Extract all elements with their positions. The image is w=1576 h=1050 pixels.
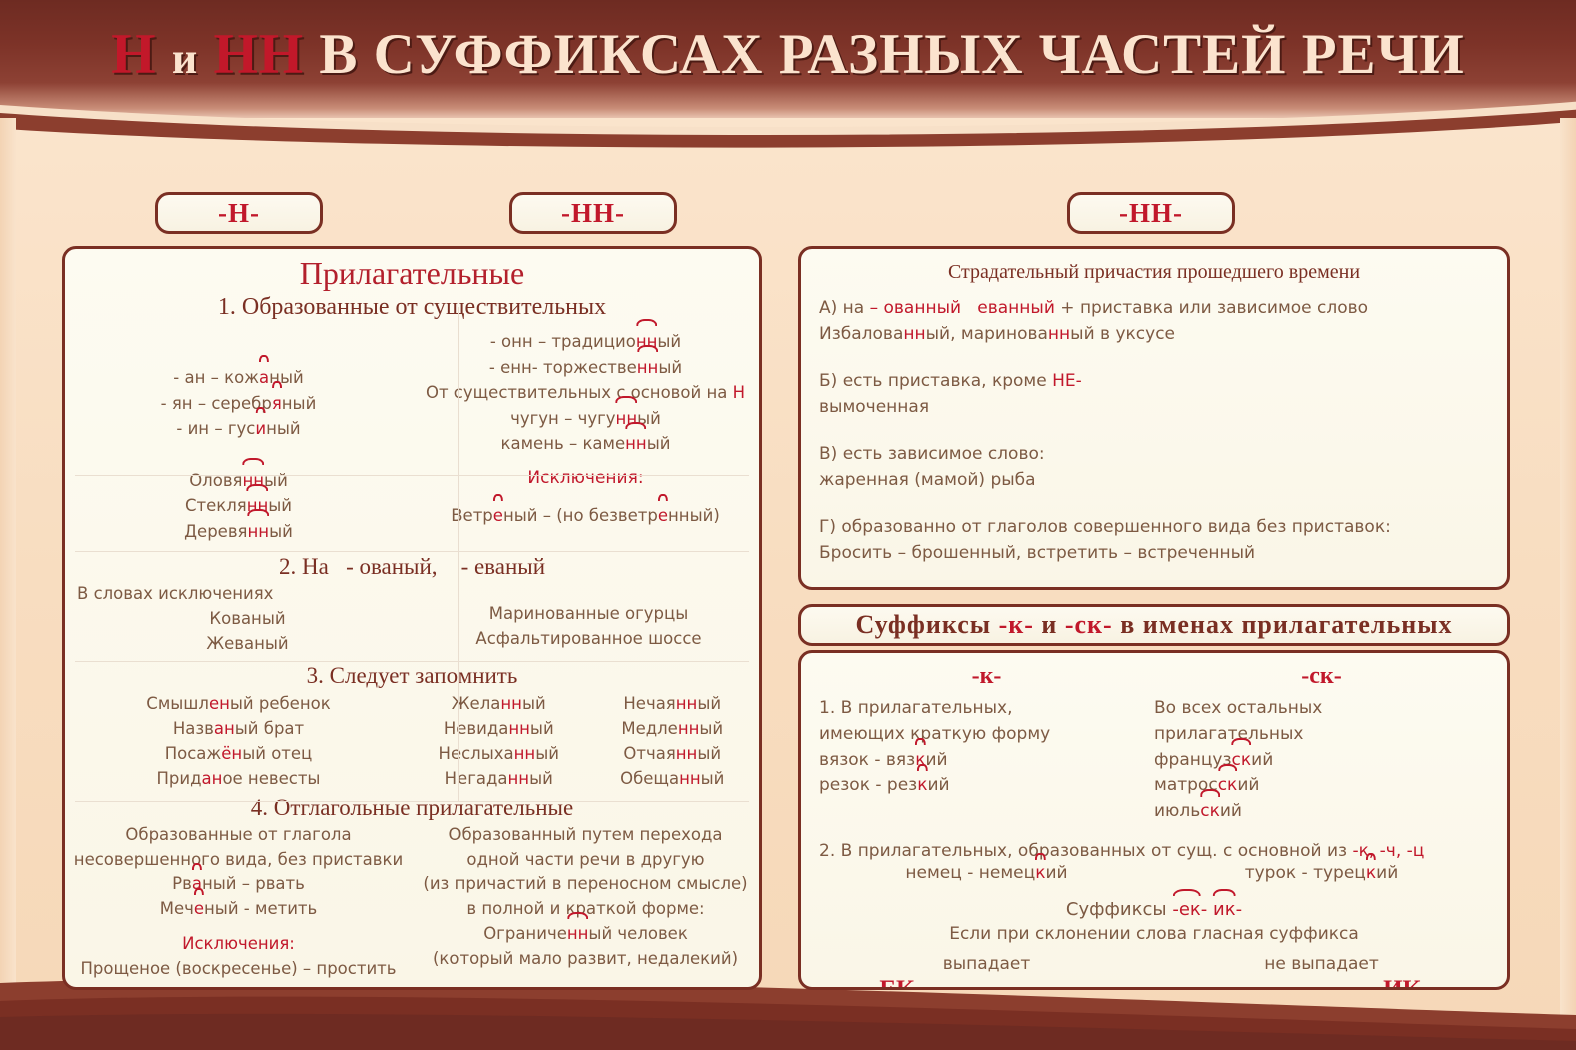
ek-ik-condition: Если при склонении слова гласная суффикс… — [819, 924, 1489, 944]
badge-left-n: -Н- — [155, 192, 323, 234]
s3-mid-item: Негаданный — [412, 766, 586, 791]
s3-mid-item: Неслыханный — [412, 741, 586, 766]
s4-heading: 4. Отглагольные прилагательные — [65, 795, 759, 821]
s4-right-line: Образованный путем перехода — [412, 823, 759, 848]
banner-sk: -ск- — [1065, 610, 1113, 640]
rule2-left: немец - немецкий — [819, 863, 1154, 883]
divider-after-s4 — [75, 801, 749, 802]
s1-right-example: камень – каменный — [412, 431, 759, 457]
rule-b-marker: Б) есть приставка, кроме — [819, 371, 1047, 391]
s3-left-item: Приданое невесты — [65, 766, 412, 791]
s2-left-note: В словах исключениях — [77, 582, 418, 607]
s1-right-item: - онн – традиционный — [412, 329, 759, 355]
s2-heading: 2. На - ованый, - еваный — [65, 554, 759, 580]
rule-a-example: Избалованный, маринованный в уксусе — [819, 322, 1489, 348]
s4-left-example: Рваный – рвать — [65, 872, 412, 897]
sk-example: июльский — [1154, 799, 1489, 825]
banner-tail: в именах прилагательных — [1120, 610, 1452, 640]
ek-ik-heading-ek: -ек — [1172, 899, 1200, 920]
s4-right-column: Образованный путем перехода одной части … — [412, 823, 759, 982]
s4-left-line: Образованные от глагола — [65, 823, 412, 848]
s2-heading-a: 2. На — [279, 554, 329, 579]
badge-right-nn-label: -НН- — [1119, 198, 1183, 229]
rule-a-tail: + приставка или зависимое слово — [1060, 298, 1368, 318]
s3-left-item: Названый брат — [65, 716, 412, 741]
divider-after-s3 — [75, 661, 749, 662]
sk-rule-line: прилагательных — [1154, 722, 1489, 748]
ek-ik-heading-word: Суффиксы — [1066, 899, 1167, 920]
banner-k: -к- — [999, 610, 1034, 640]
rule-b: Б) есть приставка, кроме НЕ- вымоченная — [819, 369, 1489, 420]
ek-badge: -ЕК- — [819, 976, 1180, 990]
rule-a: А) на – ованный еванный + приставка или … — [819, 296, 1489, 347]
right-top-panel: Страдательный причастия прошедшего време… — [798, 246, 1510, 590]
rule-b-accent: НЕ- — [1052, 371, 1082, 391]
s3-left-item: Посажёный отец — [65, 741, 412, 766]
s1-left-exception: Оловянный — [65, 468, 412, 494]
s1-left-item: - ан – кожаный — [65, 365, 412, 391]
badge-right-nn: -НН- — [1067, 192, 1235, 234]
sk-column: Во всех остальных прилагательных француз… — [1154, 696, 1489, 825]
s2-left-column: В словах исключениях Кованый Жеваный — [65, 582, 418, 656]
ek-ik-heading-ik: ик — [1213, 899, 1236, 920]
not-drops-label: не выпадает — [1154, 954, 1489, 974]
rule-g: Г) образованно от глаголов совершенного … — [819, 515, 1489, 566]
ek-ik-heading: Суффиксы -ек- ик- — [819, 899, 1489, 920]
s3-mid-column: Желанный Невиданный Неслыханный Негаданн… — [412, 691, 586, 791]
s1-left-column: - ан – кожаный - ян – серебряный - ин – … — [65, 329, 412, 544]
s2-heading-c: - еваный — [461, 554, 545, 579]
rule-a-suffix-a: – ованный — [870, 298, 961, 318]
s1-left-item: - ин – гусиный — [65, 416, 412, 442]
s4-exception-line: Прощеное (воскресенье) – простить — [65, 957, 412, 982]
banner-word-suffixes: Суффиксы — [855, 610, 991, 640]
page-title: Н и НН В СУФФИКСАХ РАЗНЫХ ЧАСТЕЙ РЕЧИ — [0, 22, 1576, 87]
k-column: 1. В прилагательных, имеющих краткую фор… — [819, 696, 1154, 825]
rule2-right: турок - турецкий — [1154, 863, 1489, 883]
k-example: резок - резкий — [819, 773, 1154, 799]
s4-right-gloss: (который мало развит, недалекий) — [412, 947, 759, 972]
s3-right-item: Отчаянный — [586, 741, 760, 766]
banner-and: и — [1041, 610, 1057, 640]
ik-badge: -ИК- — [1375, 976, 1489, 990]
s2-right-item: Маринованные огурцы — [418, 602, 759, 627]
s1-left-exception: Деревянный — [65, 519, 412, 545]
s3-right-item: Обещанный — [586, 766, 760, 791]
s3-right-item: Медленный — [586, 716, 760, 741]
s1-left-item: - ян – серебряный — [65, 391, 412, 417]
s2-right-column: Маринованные огурцы Асфальтированное шос… — [418, 582, 759, 656]
badge-left-nn-label: -НН- — [561, 198, 625, 229]
s3-heading: 3. Следует запомнить — [65, 663, 759, 689]
s5-badge: -Н- — [65, 985, 759, 990]
rule-g-marker: Г) образованно от глаголов совершенного … — [819, 515, 1489, 541]
adverbs-heading: Наречия — [819, 584, 1489, 590]
s2-left-item: Кованый — [77, 607, 418, 632]
rule-a-suffix-b: еванный — [977, 298, 1055, 318]
col-k-badge: -к- — [819, 663, 1154, 690]
s1-right-column: - онн – традиционный - енн- торжественны… — [412, 329, 759, 544]
s3-left-item: Смышленый ребенок — [65, 691, 412, 716]
s4-right-line: одной части речи в другую — [412, 848, 759, 873]
rule-g-example: Бросить – брошенный, встретить – встрече… — [819, 541, 1489, 567]
badge-left-n-label: -Н- — [218, 198, 260, 229]
left-panel-title: Прилагательные — [65, 255, 759, 292]
title-nn: НН — [213, 23, 304, 86]
col-sk-badge: -ск- — [1154, 663, 1489, 690]
s4-left-line: несовершенного вида, без приставки — [65, 848, 412, 873]
rule-v-example: жаренная (мамой) рыба — [819, 468, 1489, 494]
s3-mid-item: Желанный — [412, 691, 586, 716]
s3-mid-item: Невиданный — [412, 716, 586, 741]
s4-left-example: Меченый - метить — [65, 897, 412, 922]
s4-exceptions-label: Исключения: — [65, 932, 412, 957]
rule-v: В) есть зависимое слово: жаренная (мамой… — [819, 442, 1489, 493]
s4-right-line: (из причастий в переносном смысле) — [412, 872, 759, 897]
right-edge-decoration — [1560, 118, 1576, 1050]
rule-a-marker: А) на — [819, 298, 864, 318]
badge-left-nn: -НН- — [509, 192, 677, 234]
rule-v-marker: В) есть зависимое слово: — [819, 442, 1489, 468]
s1-right-note: От существительных с основой на Н — [412, 380, 759, 406]
divider-after-s2 — [75, 551, 749, 552]
s1-exceptions-label: Исключения: — [412, 465, 759, 491]
s4-left-column: Образованные от глагола несовершенного в… — [65, 823, 412, 982]
suffix-k-sk-banner: Суффиксы -к- и -ск- в именах прилагатель… — [798, 604, 1510, 646]
title-rest: В СУФФИКСАХ РАЗНЫХ ЧАСТЕЙ РЕЧИ — [319, 23, 1464, 86]
s3-left-column: Смышленый ребенок Названый брат Посажёны… — [65, 691, 412, 791]
header-band: Н и НН В СУФФИКСАХ РАЗНЫХ ЧАСТЕЙ РЕЧИ — [0, 0, 1576, 118]
rule-a-marker-line: А) на – ованный еванный + приставка или … — [819, 296, 1489, 322]
left-edge-decoration — [0, 118, 16, 1050]
s4-right-example: Ограниченный человек — [412, 922, 759, 947]
s1-heading: 1. Образованные от существительных — [65, 294, 759, 321]
sk-rule-line: Во всех остальных — [1154, 696, 1489, 722]
left-panel-column-divider — [458, 307, 459, 801]
divider-after-s1 — [75, 475, 749, 476]
s1-left-exception: Стеклянный — [65, 493, 412, 519]
right-top-title: Страдательный причастия прошедшего време… — [819, 261, 1489, 284]
sk-example: французский — [1154, 748, 1489, 774]
s1-right-example: чугун – чугунный — [412, 406, 759, 432]
s3-right-item: Нечаянный — [586, 691, 760, 716]
rule-b-marker-line: Б) есть приставка, кроме НЕ- — [819, 369, 1489, 395]
title-n: Н — [111, 23, 156, 86]
s2-left-item: Жеваный — [77, 632, 418, 657]
k-rule-line: 1. В прилагательных, — [819, 696, 1154, 722]
left-panel: Прилагательные 1. Образованные от сущест… — [62, 246, 762, 990]
s1-exception-line: Ветреный – (но безветренный) — [412, 503, 759, 529]
s1-right-item: - енн- торжественный — [412, 355, 759, 381]
s2-right-item: Асфальтированное шоссе — [418, 627, 759, 652]
k-example: вязок - вязкий — [819, 748, 1154, 774]
drops-label: выпадает — [819, 954, 1154, 974]
right-bottom-panel: -к- -ск- 1. В прилагательных, имеющих кр… — [798, 650, 1510, 990]
rule2-heading: 2. В прилагательных, образованных от сущ… — [819, 841, 1489, 861]
k-rule-line: имеющих краткую форму — [819, 722, 1154, 748]
s2-heading-b: - ованый, — [346, 554, 438, 579]
title-conjunction: и — [172, 34, 198, 83]
rule-b-example: вымоченная — [819, 395, 1489, 421]
s3-right-column: Нечаянный Медленный Отчаянный Обещанный — [586, 691, 760, 791]
